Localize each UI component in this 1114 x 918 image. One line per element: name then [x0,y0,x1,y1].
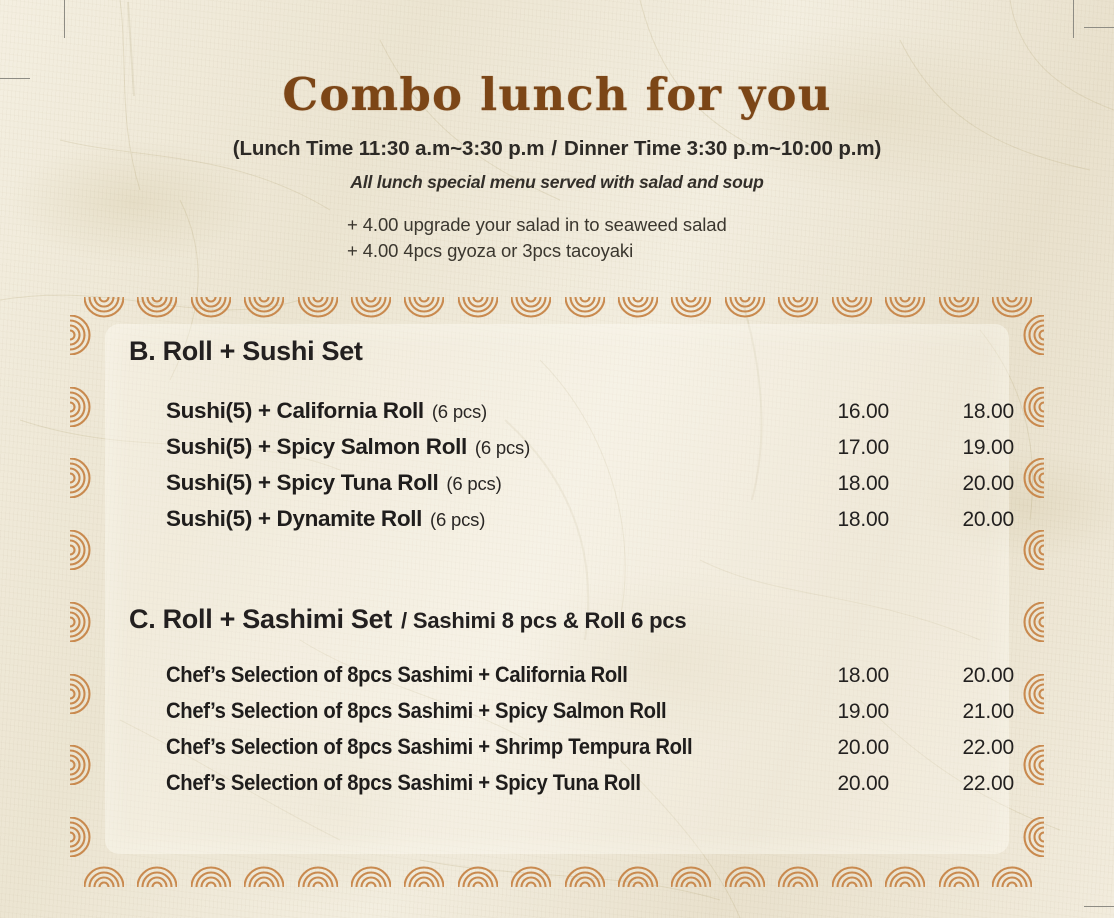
upgrade-line: + 4.00 upgrade your salad in to seaweed … [347,212,727,238]
menu-item-qty: (6 pcs) [424,401,487,422]
menu-item-price-2: 20.00 [924,664,1014,688]
crop-mark-top-left-v [64,0,65,38]
menu-item-row[interactable]: Sushi(5) + Spicy Tuna Roll(6 pcs) 18.00 … [62,470,1052,506]
upgrade-options: + 4.00 upgrade your salad in to seaweed … [347,212,727,264]
menu-item-title: Chef’s Selection of 8pcs Sashimi + Calif… [166,662,628,688]
menu-item-row[interactable]: Sushi(5) + Spicy Salmon Roll(6 pcs) 17.0… [62,434,1052,470]
menu-item-price-2: 20.00 [924,508,1014,532]
menu-frame: B. Roll + Sushi Set Sushi(5) + Californi… [62,296,1052,888]
menu-item-price-1: 17.00 [799,436,889,460]
upgrade-line: + 4.00 4pcs gyoza or 3pcs tacoyaki [347,238,727,264]
served-note: All lunch special menu served with salad… [0,172,1114,193]
menu-item-name: Sushi(5) + Spicy Tuna Roll(6 pcs) [166,470,502,496]
menu-item-price-1: 20.00 [799,772,889,796]
menu-item-name: Chef’s Selection of 8pcs Sashimi + Shrim… [166,734,751,760]
menu-item-title: Sushi(5) + Spicy Tuna Roll [166,470,438,495]
menu-items-b: Sushi(5) + California Roll(6 pcs) 16.00 … [62,398,1052,542]
crop-mark-top-right-v [1073,0,1074,38]
menu-item-name: Chef’s Selection of 8pcs Sashimi + Spicy… [166,770,693,796]
dinner-hours: Dinner Time 3:30 p.m~10:00 p.m) [564,137,881,160]
menu-item-qty: (6 pcs) [422,509,485,530]
menu-item-qty: (6 pcs) [438,473,501,494]
menu-item-name: Chef’s Selection of 8pcs Sashimi + Calif… [166,662,679,688]
menu-item-row[interactable]: Chef’s Selection of 8pcs Sashimi + Spicy… [62,698,1052,734]
menu-item-name: Sushi(5) + Spicy Salmon Roll(6 pcs) [166,434,530,460]
menu-item-title: Chef’s Selection of 8pcs Sashimi + Spicy… [166,698,666,724]
section-heading-b-label: B. Roll + Sushi Set [129,336,363,366]
menu-header: Combo lunch for you (Lunch Time 11:30 a.… [0,72,1114,193]
menu-item-title: Chef’s Selection of 8pcs Sashimi + Spicy… [166,770,641,796]
menu-item-price-1: 19.00 [799,700,889,724]
menu-item-price-2: 22.00 [924,736,1014,760]
menu-item-row[interactable]: Chef’s Selection of 8pcs Sashimi + Calif… [62,662,1052,698]
menu-item-price-1: 20.00 [799,736,889,760]
menu-item-price-2: 21.00 [924,700,1014,724]
page-title: Combo lunch for you [0,72,1114,117]
menu-item-row[interactable]: Sushi(5) + Dynamite Roll(6 pcs) 18.00 20… [62,506,1052,542]
menu-item-title: Sushi(5) + California Roll [166,398,424,423]
menu-item-price-1: 18.00 [799,472,889,496]
lunch-hours: (Lunch Time 11:30 a.m~3:30 p.m [233,137,545,160]
crop-mark-bottom-right-h [1084,906,1114,907]
menu-item-price-2: 22.00 [924,772,1014,796]
menu-item-name: Sushi(5) + Dynamite Roll(6 pcs) [166,506,485,532]
hours-separator: / [544,137,564,161]
menu-item-title: Sushi(5) + Spicy Salmon Roll [166,434,467,459]
menu-item-row[interactable]: Sushi(5) + California Roll(6 pcs) 16.00 … [62,398,1052,434]
section-heading-c-sub: / Sashimi 8 pcs & Roll 6 pcs [392,608,686,633]
hours-line: (Lunch Time 11:30 a.m~3:30 p.m/Dinner Ti… [0,137,1114,161]
menu-item-price-2: 18.00 [924,400,1014,424]
menu-item-price-2: 20.00 [924,472,1014,496]
menu-item-price-2: 19.00 [924,436,1014,460]
menu-item-name: Chef’s Selection of 8pcs Sashimi + Spicy… [166,698,722,724]
menu-item-qty: (6 pcs) [467,437,530,458]
section-heading-c-label: C. Roll + Sashimi Set [129,604,392,634]
menu-item-price-1: 18.00 [799,508,889,532]
menu-item-title: Chef’s Selection of 8pcs Sashimi + Shrim… [166,734,692,760]
menu-item-price-1: 16.00 [799,400,889,424]
menu-item-title: Sushi(5) + Dynamite Roll [166,506,422,531]
menu-item-row[interactable]: Chef’s Selection of 8pcs Sashimi + Spicy… [62,770,1052,806]
menu-item-name: Sushi(5) + California Roll(6 pcs) [166,398,487,424]
menu-items-c: Chef’s Selection of 8pcs Sashimi + Calif… [62,662,1052,806]
menu-item-price-1: 18.00 [799,664,889,688]
section-heading-b: B. Roll + Sushi Set [129,336,363,367]
menu-sections: B. Roll + Sushi Set Sushi(5) + Californi… [62,296,1052,888]
menu-item-row[interactable]: Chef’s Selection of 8pcs Sashimi + Shrim… [62,734,1052,770]
section-heading-c: C. Roll + Sashimi Set/ Sashimi 8 pcs & R… [129,604,686,635]
menu-page: Combo lunch for you (Lunch Time 11:30 a.… [0,0,1114,918]
crop-mark-top-right-h [1084,27,1114,28]
